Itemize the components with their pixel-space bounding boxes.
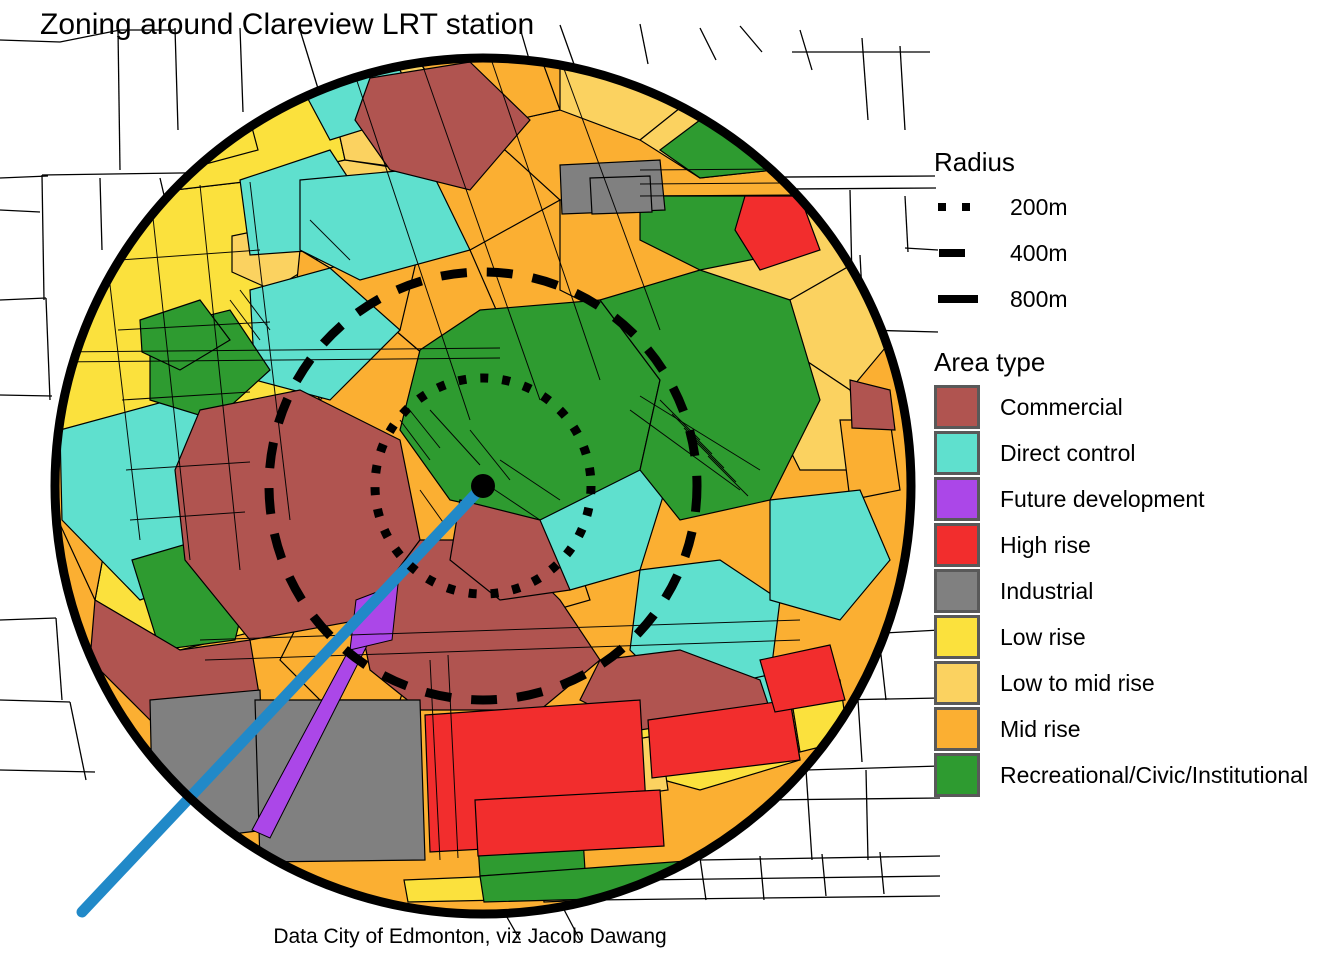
- color-swatch: [934, 431, 980, 475]
- radius-legend-item-200m[interactable]: 200m: [928, 184, 1338, 230]
- color-swatch: [934, 753, 980, 797]
- area-legend-label: Mid rise: [1000, 716, 1081, 742]
- area-legend-item-commercial[interactable]: Commercial: [928, 384, 1338, 430]
- color-swatch: [934, 477, 980, 521]
- radius-legend-label: 400m: [1010, 240, 1068, 266]
- area-legend-label: Direct control: [1000, 440, 1135, 466]
- area-legend-label: Future development: [1000, 486, 1205, 512]
- color-swatch: [934, 569, 980, 613]
- dotted-line-icon: [938, 203, 978, 211]
- area-legend-item-recreational[interactable]: Recreational/Civic/Institutional: [928, 752, 1338, 798]
- area-legend-label: High rise: [1000, 532, 1091, 558]
- area-legend-item-low-rise[interactable]: Low rise: [928, 614, 1338, 660]
- radius-key-400m: [930, 230, 986, 276]
- radius-legend-label: 800m: [1010, 286, 1068, 312]
- radius-legend: Radius 200m 400m 800m: [928, 146, 1338, 322]
- area-legend-label: Recreational/Civic/Institutional: [1000, 762, 1308, 788]
- radius-legend-item-400m[interactable]: 400m: [928, 230, 1338, 276]
- area-legend-item-low-to-mid-rise[interactable]: Low to mid rise: [928, 660, 1338, 706]
- color-swatch: [934, 661, 980, 705]
- area-legend-item-high-rise[interactable]: High rise: [928, 522, 1338, 568]
- radius-legend-label: 200m: [1010, 194, 1068, 220]
- legend-panel: Radius 200m 400m 800m Area: [928, 146, 1338, 798]
- color-swatch: [934, 707, 980, 751]
- page-title: Zoning around Clareview LRT station: [40, 6, 534, 44]
- parcel-industrial: [590, 176, 652, 214]
- area-legend-label: Low rise: [1000, 624, 1086, 650]
- area-legend-label: Low to mid rise: [1000, 670, 1155, 696]
- solid-line-icon: [938, 295, 978, 303]
- color-swatch: [934, 523, 980, 567]
- map-figure: Zoning around Clareview LRT station Data…: [0, 0, 1344, 960]
- parcel-high-rise: [475, 790, 664, 856]
- color-swatch: [934, 385, 980, 429]
- area-legend-item-industrial[interactable]: Industrial: [928, 568, 1338, 614]
- station-point[interactable]: [471, 474, 495, 498]
- radius-legend-title: Radius: [934, 146, 1338, 178]
- area-legend-title: Area type: [934, 346, 1338, 378]
- radius-key-800m: [930, 276, 986, 322]
- dashed-line-icon: [939, 249, 977, 257]
- area-legend-item-direct-control[interactable]: Direct control: [928, 430, 1338, 476]
- zoning-map[interactable]: [0, 0, 940, 960]
- area-legend-item-future-development[interactable]: Future development: [928, 476, 1338, 522]
- radius-key-200m: [930, 184, 986, 230]
- area-legend-item-mid-rise[interactable]: Mid rise: [928, 706, 1338, 752]
- map-caption: Data City of Edmonton, viz Jacob Dawang: [0, 925, 940, 949]
- area-type-legend: Area type Commercial Direct control Futu…: [928, 346, 1338, 798]
- area-legend-label: Industrial: [1000, 578, 1093, 604]
- radius-legend-item-800m[interactable]: 800m: [928, 276, 1338, 322]
- parcel-mid-rise: [840, 420, 900, 500]
- area-legend-label: Commercial: [1000, 394, 1123, 420]
- color-swatch: [934, 615, 980, 659]
